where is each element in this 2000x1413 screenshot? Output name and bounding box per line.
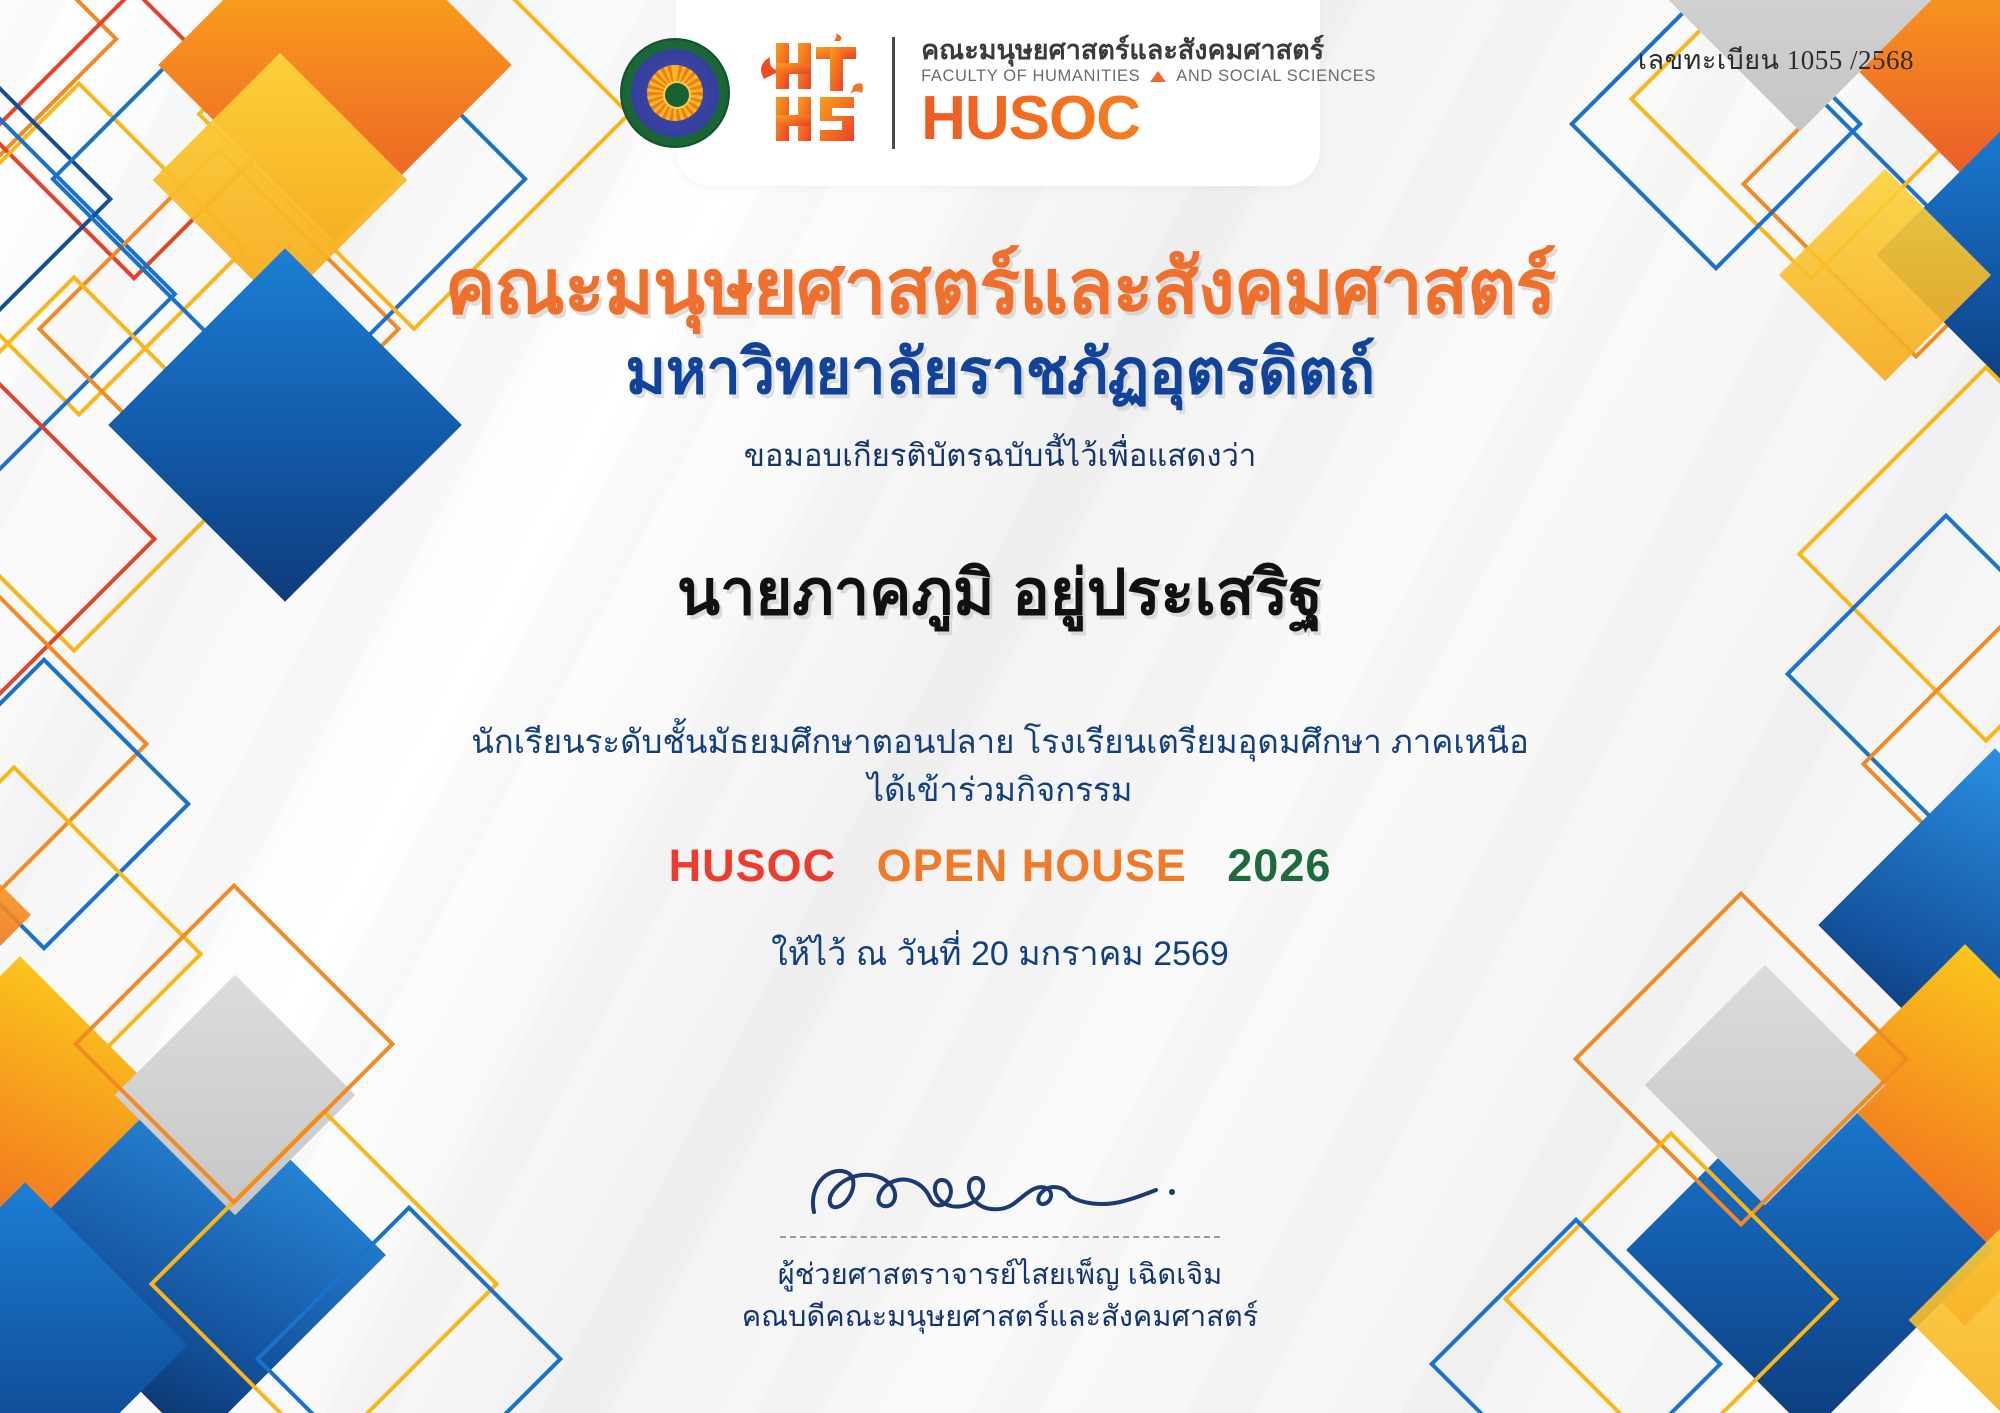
signer-position: คณบดีคณะมนุษยศาสตร์และสังคมศาสตร์ [680,1296,1320,1338]
diamond-filled [1774,944,2000,1326]
diamond-filled [1645,965,1885,1205]
event-title-part-1: HUSOC [669,840,837,891]
diamond-outline [1503,1131,1840,1413]
certificate-subtitle: ขอมอบเกียรติบัตรฉบับนี้ไว้เพื่อแสดงว่า [0,430,2000,480]
signature-block: ผู้ช่วยศาสตราจารย์ไสยเพ็ญ เฉิดเจิม คณบดี… [680,1150,1320,1338]
title-line-2: มหาวิทยาลัยราชภัฏอุตรดิตถ์ [0,342,2000,404]
body-line-2: ได้เข้าร่วมกิจกรรม [0,766,2000,814]
recipient-name: นายภาคภูมิ อยู่ประเสริฐ [0,542,2000,642]
diamond-filled [115,975,355,1215]
diamond-filled [0,1182,188,1413]
body-line-1: นักเรียนระดับชั้นมัธยมศึกษาตอนปลาย โรงเร… [0,718,2000,766]
diamond-filled [4,1064,386,1413]
event-title-part-2: OPEN HOUSE [877,840,1187,891]
issue-date: ให้ไว้ ณ วันที่ 20 มกราคม 2569 [0,926,2000,980]
diamond-filled [1626,1066,1994,1413]
signer-name: ผู้ช่วยศาสตราจารย์ไสยเพ็ญ เฉิดเจิม [680,1254,1320,1296]
title-line-1: คณะมนุษยศาสตร์และสังคมศาสตร์ [0,250,2000,326]
diamond-filled [0,956,204,1324]
handwritten-signature-icon [790,1150,1210,1230]
event-title: HUSOC OPEN HOUSE 2026 [0,840,2000,892]
signature-rule [780,1236,1220,1238]
certificate-body: คณะมนุษยศาสตร์และสังคมศาสตร์ มหาวิทยาลัย… [0,0,2000,980]
event-title-part-3: 2026 [1227,840,1331,891]
diamond-outline [1429,1217,1723,1413]
diamond-outline [149,1109,500,1413]
diamond-filled [1909,1179,2000,1413]
certificate-page: คณะมนุษยศาสตร์และสังคมศาสตร์ FACULTY OF … [0,0,2000,1413]
diamond-outline [255,1205,563,1413]
